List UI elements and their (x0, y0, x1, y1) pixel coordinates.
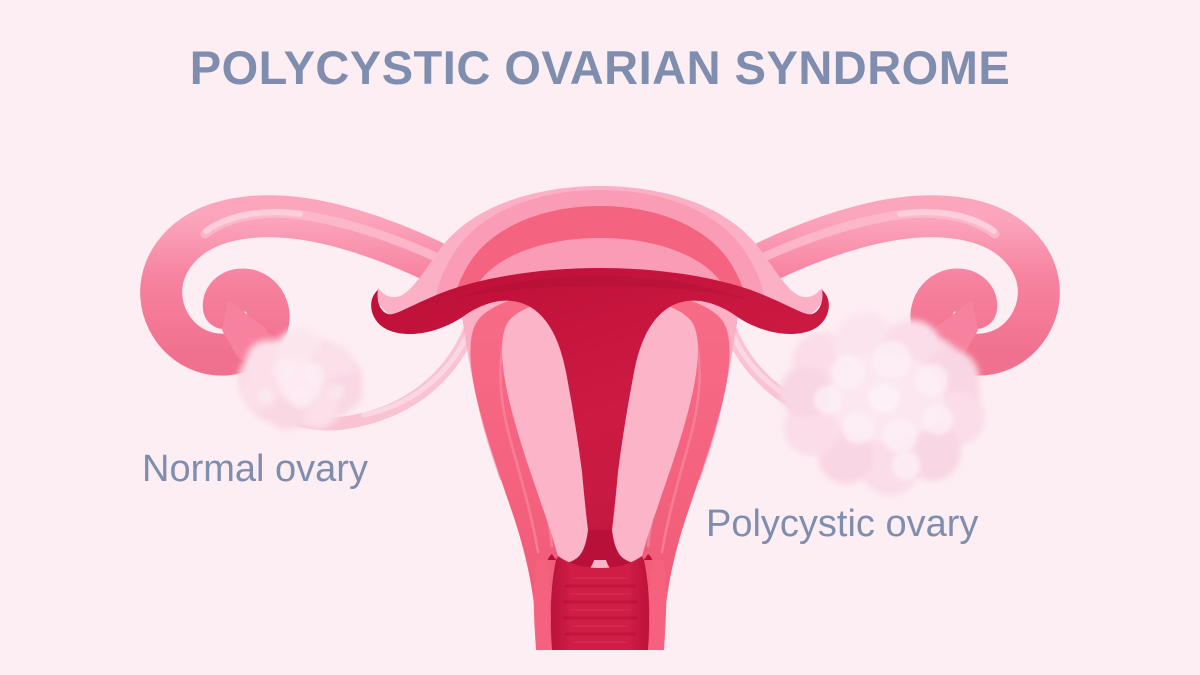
vagina (548, 556, 652, 650)
normal-ovary (238, 328, 363, 430)
poster-canvas: POLYCYSTIC OVARIAN SYNDROME (0, 0, 1200, 675)
label-normal-ovary: Normal ovary (142, 448, 368, 491)
reproductive-system-illustration (0, 0, 1200, 675)
label-polycystic-ovary: Polycystic ovary (706, 503, 978, 546)
endometrial-cavity (371, 268, 829, 530)
